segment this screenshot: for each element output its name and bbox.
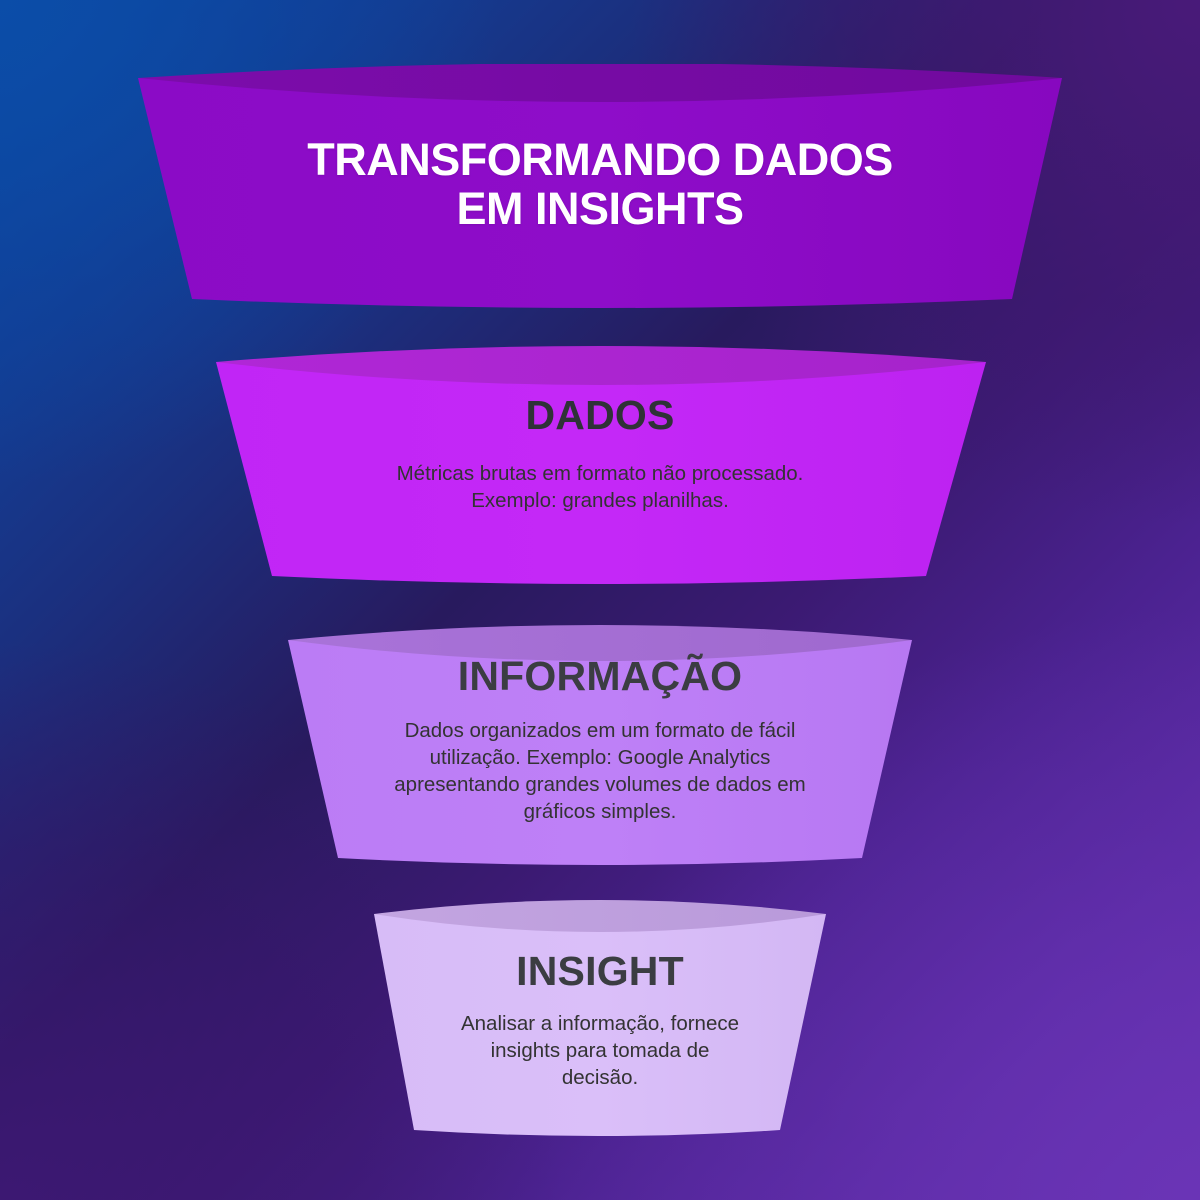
- dados-title: DADOS: [0, 393, 1200, 437]
- insight-title: INSIGHT: [0, 949, 1200, 993]
- headline-title-line-1: TRANSFORMANDO DADOS: [307, 134, 892, 185]
- funnel-stage-text-informacao: INFORMAÇÃO Dados organizados em um forma…: [0, 654, 1200, 825]
- informacao-description-line-3: apresentando grandes volumes de dados em: [394, 773, 805, 796]
- dados-description: Métricas brutas em formato não processad…: [0, 460, 1200, 514]
- informacao-description-line-4: gráficos simples.: [524, 800, 677, 823]
- infographic-canvas: TRANSFORMANDO DADOS EM INSIGHTS: [0, 0, 1200, 1200]
- headline-title: TRANSFORMANDO DADOS EM INSIGHTS: [0, 136, 1200, 233]
- funnel-stage-insight: INSIGHT Analisar a informação, fornece i…: [0, 896, 1200, 1138]
- informacao-description-line-1: Dados organizados em um formato de fácil: [405, 719, 796, 742]
- funnel-stage-dados: DADOS Métricas brutas em formato não pro…: [0, 344, 1200, 588]
- informacao-title: INFORMAÇÃO: [0, 654, 1200, 698]
- funnel-stage-text-dados: DADOS Métricas brutas em formato não pro…: [0, 393, 1200, 514]
- dados-description-line-2: Exemplo: grandes planilhas.: [471, 489, 729, 512]
- insight-description-line-3: decisão.: [562, 1066, 638, 1089]
- insight-description-line-1: Analisar a informação, fornece: [461, 1012, 739, 1035]
- insight-description: Analisar a informação, fornece insights …: [0, 1010, 1200, 1091]
- informacao-description: Dados organizados em um formato de fácil…: [0, 717, 1200, 825]
- funnel-stage-text-insight: INSIGHT Analisar a informação, fornece i…: [0, 949, 1200, 1091]
- informacao-description-line-2: utilização. Exemplo: Google Analytics: [430, 746, 771, 769]
- funnel-stage-informacao: INFORMAÇÃO Dados organizados em um forma…: [0, 620, 1200, 868]
- funnel-stage-headline: TRANSFORMANDO DADOS EM INSIGHTS: [0, 64, 1200, 308]
- dados-description-line-1: Métricas brutas em formato não processad…: [397, 462, 804, 485]
- insight-description-line-2: insights para tomada de: [491, 1039, 710, 1062]
- headline-title-line-2: EM INSIGHTS: [456, 183, 743, 234]
- funnel-stage-text-headline: TRANSFORMANDO DADOS EM INSIGHTS: [0, 136, 1200, 233]
